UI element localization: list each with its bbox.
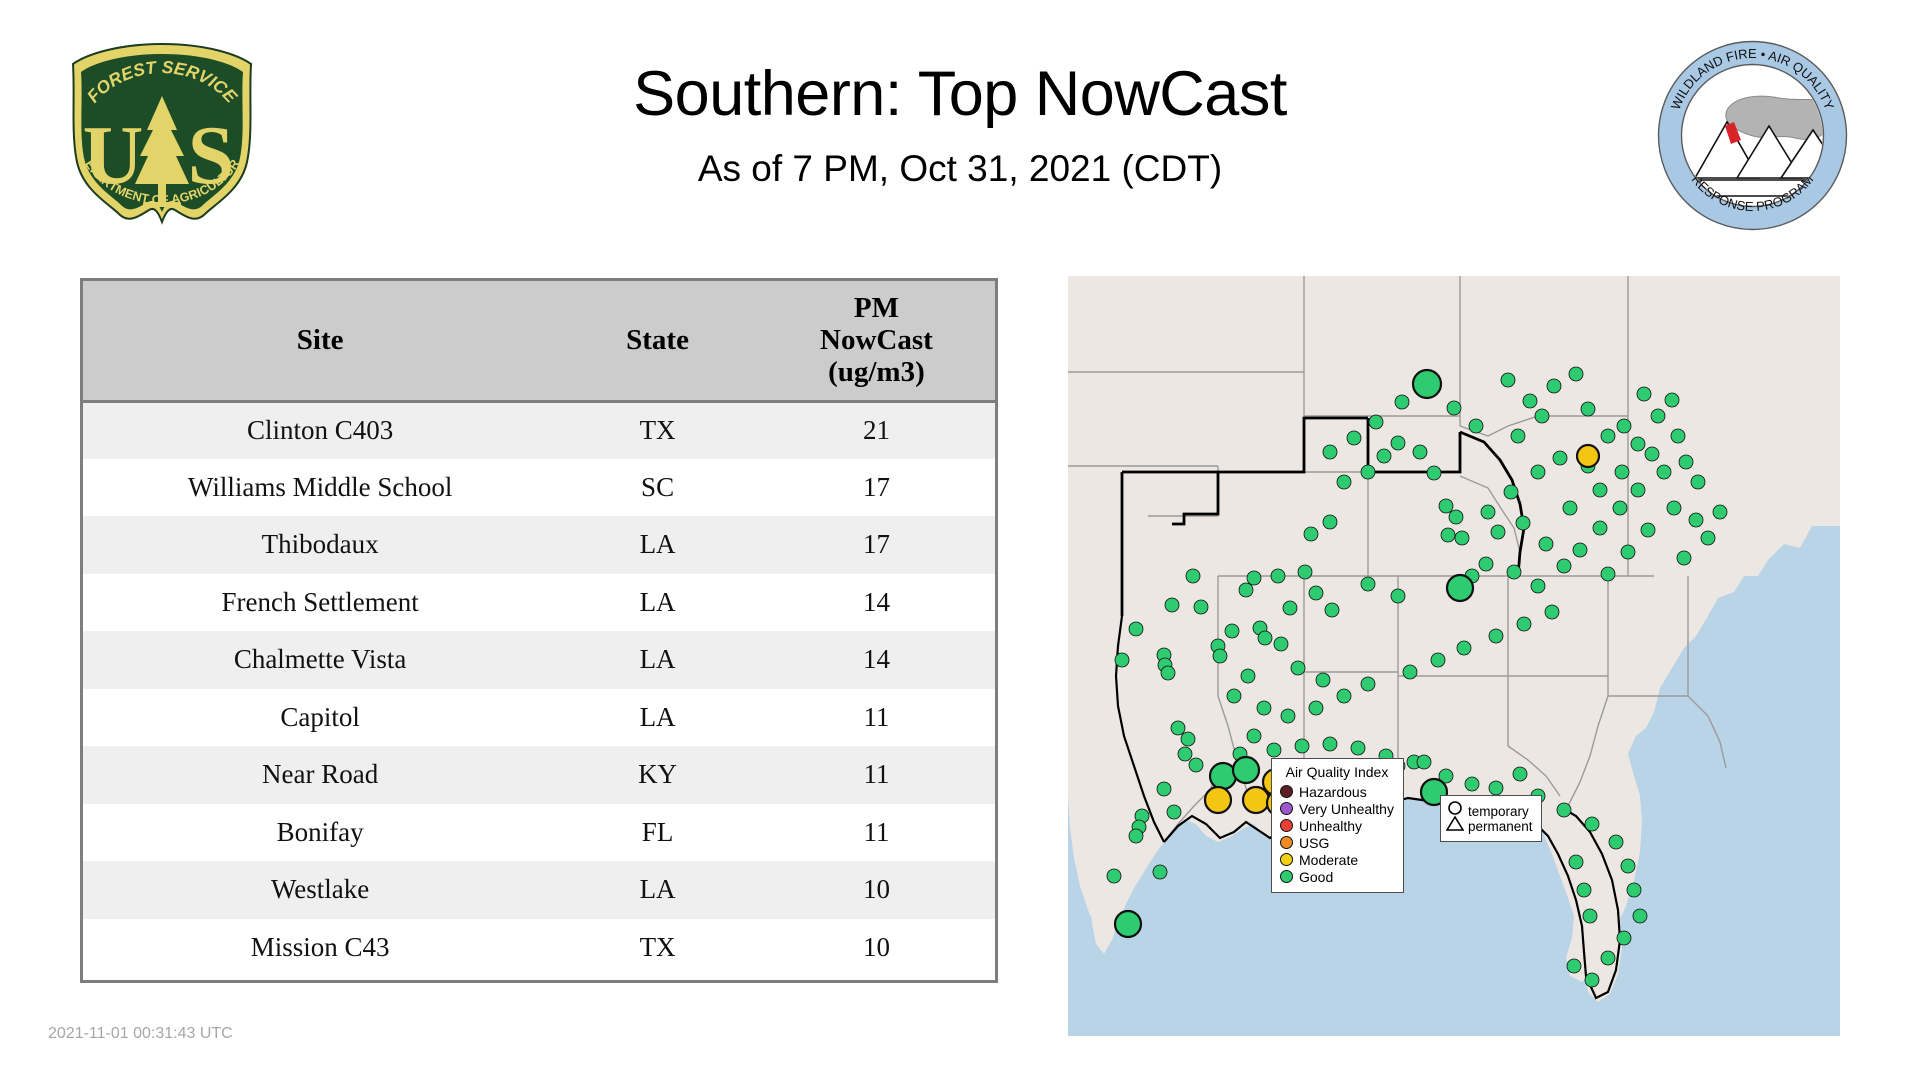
map-marker-good[interactable]: [1298, 565, 1312, 579]
map-marker-good[interactable]: [1369, 415, 1383, 429]
cell-site: Capitol: [83, 689, 557, 747]
map-marker-good[interactable]: [1309, 701, 1323, 715]
fs-logo-letter-u: U: [83, 109, 144, 202]
map-marker-good[interactable]: [1615, 465, 1629, 479]
map-marker-good[interactable]: [1583, 909, 1597, 923]
map-marker-moderate[interactable]: [1577, 445, 1599, 467]
map-marker-good[interactable]: [1593, 521, 1607, 535]
cell-value: 14: [758, 631, 995, 689]
map-marker-good[interactable]: [1178, 747, 1192, 761]
map-marker-good[interactable]: [1337, 475, 1351, 489]
map-marker-good[interactable]: [1395, 395, 1409, 409]
wildland-fire-air-quality-response-program-logo: WILDLAND FIRE • AIR QUALITY RESPONSE PRO…: [1655, 38, 1850, 233]
page-subtitle: As of 7 PM, Oct 31, 2021 (CDT): [300, 148, 1620, 190]
cell-state: SC: [557, 459, 758, 517]
cell-value: 10: [758, 861, 995, 919]
map-marker-good[interactable]: [1323, 515, 1337, 529]
map-marker-good[interactable]: [1391, 589, 1405, 603]
table-header-row: Site State PM NowCast (ug/m3): [83, 281, 995, 401]
map-marker-good[interactable]: [1517, 617, 1531, 631]
us-forest-service-shield-logo: FOREST SERVICE DEPARTMENT OF AGRICULTURE…: [55, 38, 270, 233]
map-marker-good[interactable]: [1447, 401, 1461, 415]
map-marker-good[interactable]: [1304, 527, 1318, 541]
map-marker-good[interactable]: [1291, 661, 1305, 675]
map-marker-good[interactable]: [1283, 601, 1297, 615]
legend-dot-hazardous: [1280, 785, 1293, 798]
map-marker-good[interactable]: [1247, 571, 1261, 585]
table-row: French Settlement LA 14: [83, 574, 995, 632]
table-row: Capitol LA 11: [83, 689, 995, 747]
map-marker-good[interactable]: [1267, 743, 1281, 757]
map-marker-good[interactable]: [1601, 429, 1615, 443]
map-marker-good[interactable]: [1531, 465, 1545, 479]
map-marker-good[interactable]: [1186, 569, 1200, 583]
map-marker-good[interactable]: [1107, 869, 1121, 883]
map-marker-good[interactable]: [1351, 741, 1365, 755]
map-marker-good[interactable]: [1553, 451, 1567, 465]
map-marker-good[interactable]: [1573, 543, 1587, 557]
cell-site: Westlake: [83, 861, 557, 919]
map-marker-good[interactable]: [1167, 805, 1181, 819]
column-header-site: Site: [83, 281, 557, 401]
map-marker-good[interactable]: [1427, 466, 1441, 480]
map-marker-good[interactable]: [1241, 669, 1255, 683]
monitor-type-legend: temporary permanent: [1440, 795, 1542, 842]
legend-label-unhealthy: Unhealthy: [1299, 819, 1362, 833]
table-row: Chalmette Vista LA 14: [83, 631, 995, 689]
map-marker-good[interactable]: [1667, 501, 1681, 515]
top-nowcast-table-container: Site State PM NowCast (ug/m3) Clinton C4…: [80, 278, 998, 983]
map-marker-good[interactable]: [1309, 586, 1323, 600]
cell-state: LA: [557, 689, 758, 747]
map-marker-good[interactable]: [1403, 665, 1417, 679]
map-marker-good[interactable]: [1413, 445, 1427, 459]
table-row: Clinton C403 TX 21: [83, 401, 995, 459]
cell-value: 11: [758, 804, 995, 862]
map-marker-good[interactable]: [1417, 755, 1431, 769]
legend-dot-unhealthy: [1280, 819, 1293, 832]
cell-state: TX: [557, 919, 758, 977]
map-marker-good[interactable]: [1523, 394, 1537, 408]
map-marker-good[interactable]: [1601, 567, 1615, 581]
map-marker-good[interactable]: [1194, 600, 1208, 614]
legend-item-good: Good: [1280, 868, 1394, 885]
legend-dot-moderate: [1280, 853, 1293, 866]
map-marker-good[interactable]: [1531, 579, 1545, 593]
map-marker-good[interactable]: [1439, 499, 1453, 513]
nowcast-report-page: FOREST SERVICE DEPARTMENT OF AGRICULTURE…: [0, 0, 1920, 1080]
table-row: Westlake LA 10: [83, 861, 995, 919]
map-marker-good[interactable]: [1569, 855, 1583, 869]
map-marker-good[interactable]: [1501, 373, 1515, 387]
map-marker-good[interactable]: [1577, 883, 1591, 897]
map-marker-good[interactable]: [1323, 445, 1337, 459]
map-marker-good[interactable]: [1507, 565, 1521, 579]
map-marker-good[interactable]: [1557, 559, 1571, 573]
map-marker-good[interactable]: [1115, 653, 1129, 667]
map-canvas: [1068, 276, 1840, 1036]
cell-site: Chalmette Vista: [83, 631, 557, 689]
map-marker-good[interactable]: [1377, 449, 1391, 463]
map-marker-good[interactable]: [1227, 689, 1241, 703]
column-header-pm-nowcast: PM NowCast (ug/m3): [758, 281, 995, 401]
map-marker-good[interactable]: [1637, 387, 1651, 401]
map-marker-moderate[interactable]: [1205, 787, 1231, 813]
map-marker-good[interactable]: [1491, 525, 1505, 539]
legend-item-unhealthy: Unhealthy: [1280, 817, 1394, 834]
map-marker-good[interactable]: [1677, 551, 1691, 565]
table-row: Bonifay FL 11: [83, 804, 995, 862]
legend-label-moderate: Moderate: [1299, 853, 1358, 867]
map-marker-good[interactable]: [1641, 523, 1655, 537]
map-marker-good[interactable]: [1239, 583, 1253, 597]
map-marker-good[interactable]: [1281, 709, 1295, 723]
map-marker-good[interactable]: [1431, 653, 1445, 667]
cell-state: FL: [557, 804, 758, 862]
cell-state: LA: [557, 861, 758, 919]
map-marker-good[interactable]: [1165, 598, 1179, 612]
cell-site: French Settlement: [83, 574, 557, 632]
table-row: Thibodaux LA 17: [83, 516, 995, 574]
temporary-label: temporary: [1468, 804, 1533, 819]
map-marker-good[interactable]: [1671, 429, 1685, 443]
cell-state: LA: [557, 516, 758, 574]
map-marker-good[interactable]: [1129, 829, 1143, 843]
legend-item-moderate: Moderate: [1280, 851, 1394, 868]
map-marker-good[interactable]: [1271, 569, 1285, 583]
generated-timestamp: 2021-11-01 00:31:43 UTC: [48, 1025, 233, 1043]
map-marker-good[interactable]: [1213, 649, 1227, 663]
cell-value: 11: [758, 689, 995, 747]
legend-label-very-unhealthy: Very Unhealthy: [1299, 802, 1394, 816]
map-marker-good[interactable]: [1258, 631, 1272, 645]
map-marker-good[interactable]: [1665, 393, 1679, 407]
air-quality-index-legend: Air Quality Index Hazardous Very Unhealt…: [1271, 758, 1404, 893]
map-marker-good[interactable]: [1513, 767, 1527, 781]
permanent-triangle-icon: [1447, 817, 1463, 830]
map-marker-good[interactable]: [1247, 729, 1261, 743]
map-marker-good[interactable]: [1539, 537, 1553, 551]
map-marker-good[interactable]: [1545, 605, 1559, 619]
map-marker-good[interactable]: [1479, 557, 1493, 571]
map-marker-good[interactable]: [1617, 419, 1631, 433]
map-marker-good[interactable]: [1601, 951, 1615, 965]
map-marker-good[interactable]: [1585, 973, 1599, 987]
map-marker-good[interactable]: [1701, 531, 1715, 545]
cell-site: Thibodaux: [83, 516, 557, 574]
map-marker-good[interactable]: [1323, 737, 1337, 751]
cell-value: 17: [758, 459, 995, 517]
cell-site: Williams Middle School: [83, 459, 557, 517]
legend-item-usg: USG: [1280, 834, 1394, 851]
map-marker-good[interactable]: [1535, 409, 1549, 423]
cell-state: KY: [557, 746, 758, 804]
legend-label-good: Good: [1299, 870, 1333, 884]
map-marker-good[interactable]: [1457, 641, 1471, 655]
legend-item-very-unhealthy: Very Unhealthy: [1280, 800, 1394, 817]
map-marker-good[interactable]: [1585, 817, 1599, 831]
map-marker-good[interactable]: [1361, 677, 1375, 691]
map-marker-good[interactable]: [1631, 483, 1645, 497]
table-body: Clinton C403 TX 21 Williams Middle Schoo…: [83, 401, 995, 976]
map-marker-good[interactable]: [1613, 501, 1627, 515]
map-marker-good[interactable]: [1504, 485, 1518, 499]
map-marker-good[interactable]: [1413, 370, 1441, 398]
map-marker-good[interactable]: [1621, 859, 1635, 873]
map-marker-good[interactable]: [1115, 911, 1141, 937]
cell-site: Mission C43: [83, 919, 557, 977]
map-marker-good[interactable]: [1391, 436, 1405, 450]
map-marker-good[interactable]: [1157, 782, 1171, 796]
fs-logo-letter-s: S: [188, 109, 235, 202]
table-row: Williams Middle School SC 17: [83, 459, 995, 517]
map-marker-good[interactable]: [1325, 603, 1339, 617]
legend-dot-very-unhealthy: [1280, 802, 1293, 815]
legend-dot-usg: [1280, 836, 1293, 849]
map-marker-good[interactable]: [1337, 689, 1351, 703]
cell-site: Clinton C403: [83, 401, 557, 459]
map-marker-good[interactable]: [1274, 637, 1288, 651]
map-marker-good[interactable]: [1617, 931, 1631, 945]
map-marker-good[interactable]: [1621, 545, 1635, 559]
table-row: Near Road KY 11: [83, 746, 995, 804]
map-marker-good[interactable]: [1361, 465, 1375, 479]
map-marker-good[interactable]: [1189, 758, 1203, 772]
legend-item-hazardous: Hazardous: [1280, 783, 1394, 800]
map-marker-good[interactable]: [1153, 865, 1167, 879]
map-marker-good[interactable]: [1225, 624, 1239, 638]
map-marker-good[interactable]: [1489, 629, 1503, 643]
map-marker-good[interactable]: [1631, 437, 1645, 451]
cell-state: LA: [557, 631, 758, 689]
table-row: Mission C43 TX 10: [83, 919, 995, 977]
legend-label-hazardous: Hazardous: [1299, 785, 1367, 799]
map-marker-good[interactable]: [1481, 505, 1495, 519]
monitor-type-labels: temporary permanent: [1468, 804, 1533, 834]
map-marker-good[interactable]: [1557, 803, 1571, 817]
cell-site: Near Road: [83, 746, 557, 804]
map-marker-good[interactable]: [1449, 510, 1463, 524]
map-marker-good[interactable]: [1713, 505, 1727, 519]
column-header-state: State: [557, 281, 758, 401]
map-marker-good[interactable]: [1257, 701, 1271, 715]
map-marker-good[interactable]: [1361, 577, 1375, 591]
page-title: Southern: Top NowCast: [300, 58, 1620, 130]
map-marker-good[interactable]: [1181, 732, 1195, 746]
map-marker-good[interactable]: [1511, 429, 1525, 443]
cell-value: 17: [758, 516, 995, 574]
map-marker-good[interactable]: [1210, 763, 1236, 789]
map-marker-good[interactable]: [1347, 431, 1361, 445]
map-marker-good[interactable]: [1161, 666, 1175, 680]
map-marker-good[interactable]: [1516, 516, 1530, 530]
map-marker-good[interactable]: [1465, 777, 1479, 791]
map-marker-good[interactable]: [1657, 465, 1671, 479]
map-marker-good[interactable]: [1171, 721, 1185, 735]
legend-label-usg: USG: [1299, 836, 1329, 850]
permanent-label: permanent: [1468, 819, 1533, 834]
cell-value: 21: [758, 401, 995, 459]
map-marker-good[interactable]: [1295, 739, 1309, 753]
cell-value: 14: [758, 574, 995, 632]
monitor-type-glyphs: [1446, 800, 1464, 837]
map-marker-good[interactable]: [1679, 455, 1693, 469]
temporary-circle-icon: [1449, 802, 1461, 814]
map-marker-good[interactable]: [1455, 531, 1469, 545]
cell-value: 10: [758, 919, 995, 977]
map-marker-good[interactable]: [1581, 402, 1595, 416]
map-marker-good[interactable]: [1569, 367, 1583, 381]
legend-title: Air Quality Index: [1280, 764, 1394, 780]
map-marker-good[interactable]: [1627, 883, 1641, 897]
map-marker-good[interactable]: [1547, 379, 1561, 393]
cell-state: LA: [557, 574, 758, 632]
map-marker-good[interactable]: [1469, 419, 1483, 433]
map-marker-good[interactable]: [1563, 501, 1577, 515]
air-quality-monitor-map[interactable]: Air Quality Index Hazardous Very Unhealt…: [1068, 276, 1840, 1036]
map-marker-good[interactable]: [1233, 757, 1259, 783]
cell-value: 11: [758, 746, 995, 804]
map-marker-good[interactable]: [1441, 528, 1455, 542]
map-marker-good[interactable]: [1645, 447, 1659, 461]
map-marker-good[interactable]: [1129, 622, 1143, 636]
map-marker-good[interactable]: [1316, 673, 1330, 687]
map-marker-good[interactable]: [1447, 575, 1473, 601]
cell-state: TX: [557, 401, 758, 459]
map-marker-good[interactable]: [1689, 513, 1703, 527]
map-marker-good[interactable]: [1489, 781, 1503, 795]
map-marker-good[interactable]: [1633, 909, 1647, 923]
map-marker-good[interactable]: [1651, 409, 1665, 423]
map-marker-good[interactable]: [1609, 835, 1623, 849]
map-marker-good[interactable]: [1691, 475, 1705, 489]
map-marker-good[interactable]: [1567, 959, 1581, 973]
cell-site: Bonifay: [83, 804, 557, 862]
legend-dot-good: [1280, 870, 1293, 883]
top-nowcast-table: Site State PM NowCast (ug/m3) Clinton C4…: [83, 281, 995, 976]
map-marker-good[interactable]: [1593, 483, 1607, 497]
